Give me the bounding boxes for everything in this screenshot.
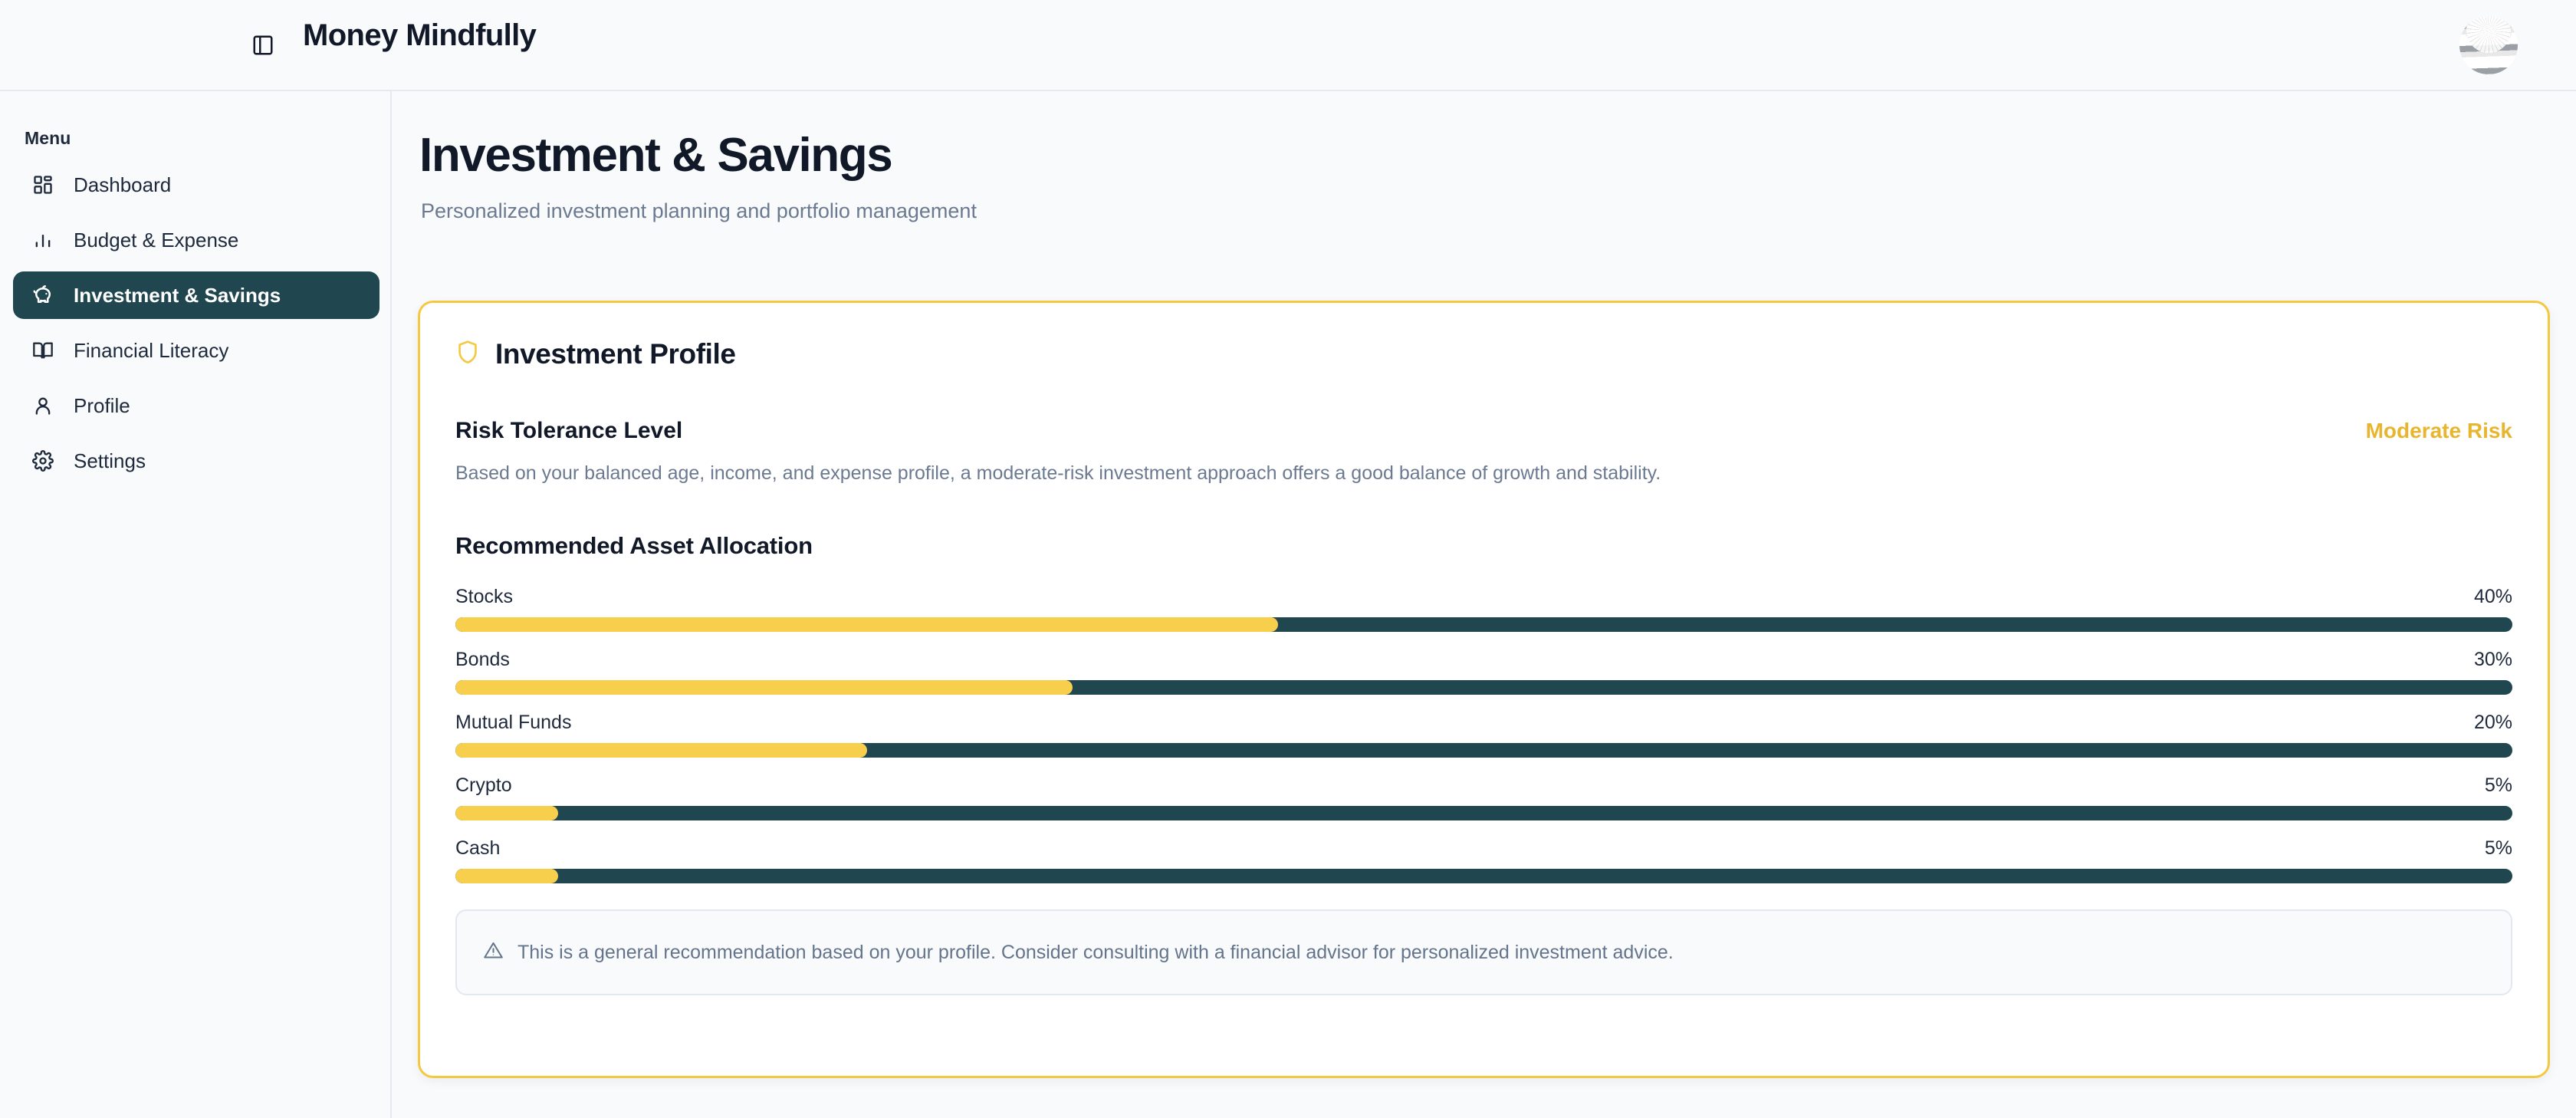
avatar-image (2459, 16, 2518, 74)
allocation-progress-fill (455, 617, 1278, 632)
allocation-item-name: Bonds (455, 649, 510, 671)
allocation-progress-fill (455, 680, 1073, 695)
allocation-item-name: Stocks (455, 586, 513, 608)
allocation-item-header: Stocks 40% (455, 586, 2512, 608)
allocation-progress-bar[interactable] (455, 869, 2512, 883)
sidebar-panel-icon (251, 34, 274, 57)
allocation-item-header: Mutual Funds 20% (455, 712, 2512, 734)
brand-title: Money Mindfully (303, 18, 536, 53)
sidebar-item-investment-savings[interactable]: Investment & Savings (13, 271, 379, 319)
risk-level-badge: Moderate Risk (2366, 419, 2512, 443)
risk-description: Based on your balanced age, income, and … (455, 462, 2512, 485)
disclaimer-note: This is a general recommendation based o… (455, 909, 2512, 995)
sidebar-item-label: Budget & Expense (74, 229, 238, 252)
bar-chart-icon (31, 228, 55, 252)
sidebar-item-label: Financial Literacy (74, 339, 228, 363)
disclaimer-text: This is a general recommendation based o… (517, 942, 1674, 964)
user-icon (31, 393, 55, 418)
gear-icon (31, 449, 55, 473)
page-title: Investment & Savings (419, 128, 2576, 182)
investment-profile-card: Investment Profile Risk Tolerance Level … (418, 301, 2550, 1078)
sidebar: Menu Dashboard Budget & Expense (0, 91, 392, 1118)
allocation-item-bonds: Bonds 30% (455, 649, 2512, 695)
sidebar-item-label: Settings (74, 449, 146, 473)
allocation-item-name: Mutual Funds (455, 712, 571, 734)
allocation-item-percent: 30% (2474, 649, 2512, 671)
sidebar-item-budget-expense[interactable]: Budget & Expense (13, 216, 379, 264)
allocation-item-name: Cash (455, 837, 500, 860)
avatar-dome-detail (2466, 18, 2512, 44)
allocation-item-percent: 5% (2485, 774, 2512, 797)
allocation-item-percent: 5% (2485, 837, 2512, 860)
allocation-item-crypto: Crypto 5% (455, 774, 2512, 820)
allocation-progress-bar[interactable] (455, 617, 2512, 632)
book-open-icon (31, 338, 55, 363)
allocation-item-stocks: Stocks 40% (455, 586, 2512, 632)
top-bar: Money Mindfully (0, 0, 2576, 91)
risk-tolerance-label: Risk Tolerance Level (455, 418, 682, 444)
sidebar-item-financial-literacy[interactable]: Financial Literacy (13, 327, 379, 374)
allocation-item-header: Cash 5% (455, 837, 2512, 860)
sidebar-item-settings[interactable]: Settings (13, 437, 379, 485)
allocation-progress-fill (455, 743, 867, 758)
sidebar-section-label: Menu (25, 128, 390, 149)
allocation-progress-bar[interactable] (455, 743, 2512, 758)
sidebar-item-label: Dashboard (74, 173, 171, 197)
allocation-progress-fill (455, 806, 558, 820)
card-header: Investment Profile (455, 338, 2512, 370)
allocation-item-name: Crypto (455, 774, 512, 797)
layout-grid-icon (31, 173, 55, 197)
sidebar-toggle-button[interactable] (247, 29, 279, 61)
sidebar-item-dashboard[interactable]: Dashboard (13, 161, 379, 209)
allocation-title: Recommended Asset Allocation (455, 532, 2512, 560)
main-content: Investment & Savings Personalized invest… (393, 91, 2576, 1118)
avatar[interactable] (2455, 12, 2522, 79)
shield-icon (455, 340, 480, 370)
warning-triangle-icon (483, 940, 504, 965)
card-title: Investment Profile (495, 338, 736, 370)
allocation-item-header: Crypto 5% (455, 774, 2512, 797)
sidebar-item-label: Profile (74, 394, 130, 418)
page-subtitle: Personalized investment planning and por… (421, 199, 2576, 223)
allocation-item-percent: 40% (2474, 586, 2512, 608)
allocation-list: Stocks 40% Bonds 30% Mutual Funds (455, 586, 2512, 883)
risk-tolerance-row: Risk Tolerance Level Moderate Risk (455, 418, 2512, 444)
allocation-progress-fill (455, 869, 558, 883)
allocation-item-header: Bonds 30% (455, 649, 2512, 671)
sidebar-item-profile[interactable]: Profile (13, 382, 379, 429)
allocation-item-percent: 20% (2474, 712, 2512, 734)
allocation-item-mutual-funds: Mutual Funds 20% (455, 712, 2512, 758)
piggy-bank-icon (31, 283, 55, 307)
allocation-progress-bar[interactable] (455, 680, 2512, 695)
allocation-item-cash: Cash 5% (455, 837, 2512, 883)
sidebar-item-label: Investment & Savings (74, 284, 281, 307)
allocation-progress-bar[interactable] (455, 806, 2512, 820)
